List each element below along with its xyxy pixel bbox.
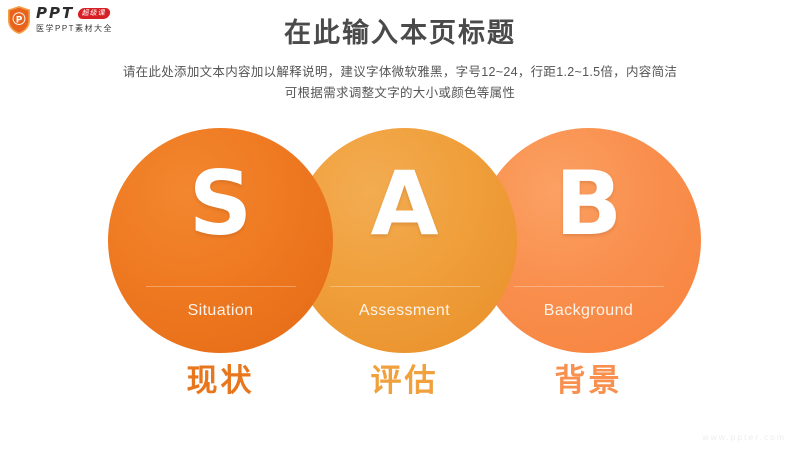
circle-situation-content: S Situation bbox=[108, 128, 333, 353]
circle-caption-situation: Situation bbox=[188, 302, 254, 320]
site-watermark: www.ppter.com bbox=[702, 432, 786, 442]
circle-letter-a: A bbox=[370, 160, 438, 248]
circle-letter-b: B bbox=[555, 160, 622, 248]
circle-situation[interactable]: S Situation bbox=[108, 128, 333, 353]
circle-letter-s: S bbox=[189, 160, 252, 248]
circle-divider bbox=[146, 286, 296, 287]
sbar-circles-row: S Situation A Assessment B Background bbox=[0, 128, 800, 358]
circle-divider bbox=[330, 286, 480, 287]
subtitle-line-2: 可根据需求调整文字的大小或颜色等属性 bbox=[0, 83, 800, 104]
cn-label-background: 背景 bbox=[476, 358, 701, 404]
cn-labels-row: 现状 评估 背景 bbox=[0, 358, 800, 410]
circle-caption-background: Background bbox=[544, 302, 633, 320]
subtitle-block: 请在此处添加文本内容加以解释说明，建议字体微软雅黑，字号12~24，行距1.2~… bbox=[0, 62, 800, 104]
page-title: 在此输入本页标题 bbox=[0, 16, 800, 50]
circle-divider bbox=[514, 286, 664, 287]
circle-caption-assessment: Assessment bbox=[359, 302, 450, 320]
subtitle-line-1: 请在此处添加文本内容加以解释说明，建议字体微软雅黑，字号12~24，行距1.2~… bbox=[0, 62, 800, 83]
